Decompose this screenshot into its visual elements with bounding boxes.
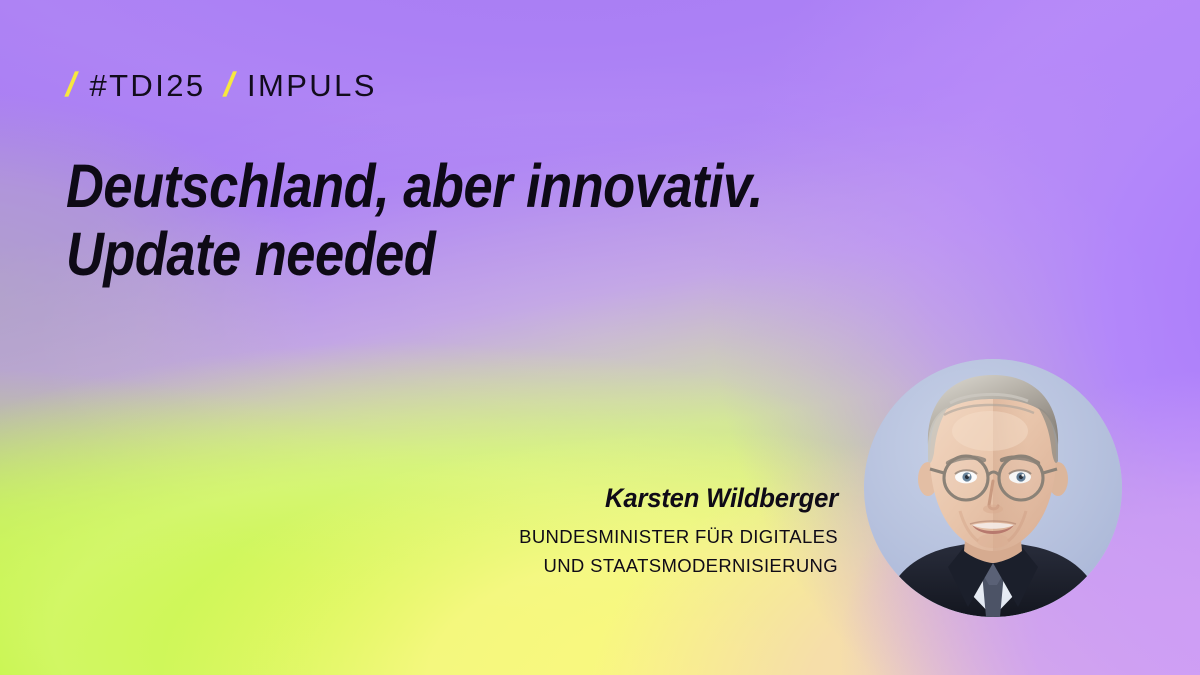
kicker-hashtag: #TDI25 <box>89 70 205 101</box>
speaker-portrait <box>864 359 1122 617</box>
portrait-illustration <box>864 359 1122 617</box>
speaker-role-line-2: UND STAATSMODERNISIERUNG <box>418 552 838 581</box>
speaker-name: Karsten Wildberger <box>439 482 838 514</box>
slash-divider-icon: / <box>65 68 76 102</box>
headline-line-2: Update needed <box>66 220 763 288</box>
headline-line-1: Deutschland, aber innovativ. <box>66 152 763 220</box>
slash-divider-2-icon: / <box>223 68 234 102</box>
headline: Deutschland, aber innovativ. Update need… <box>66 152 763 289</box>
presentation-slide: / #TDI25 / IMPULS Deutschland, aber inno… <box>0 0 1200 675</box>
speaker-role: BUNDESMINISTER FÜR DIGITALES UND STAATSM… <box>418 523 838 580</box>
speaker-role-line-1: BUNDESMINISTER FÜR DIGITALES <box>418 523 838 552</box>
speaker-credit: Karsten Wildberger BUNDESMINISTER FÜR DI… <box>418 482 838 581</box>
kicker-section-label: IMPULS <box>247 70 377 101</box>
kicker: / #TDI25 / IMPULS <box>66 68 377 102</box>
